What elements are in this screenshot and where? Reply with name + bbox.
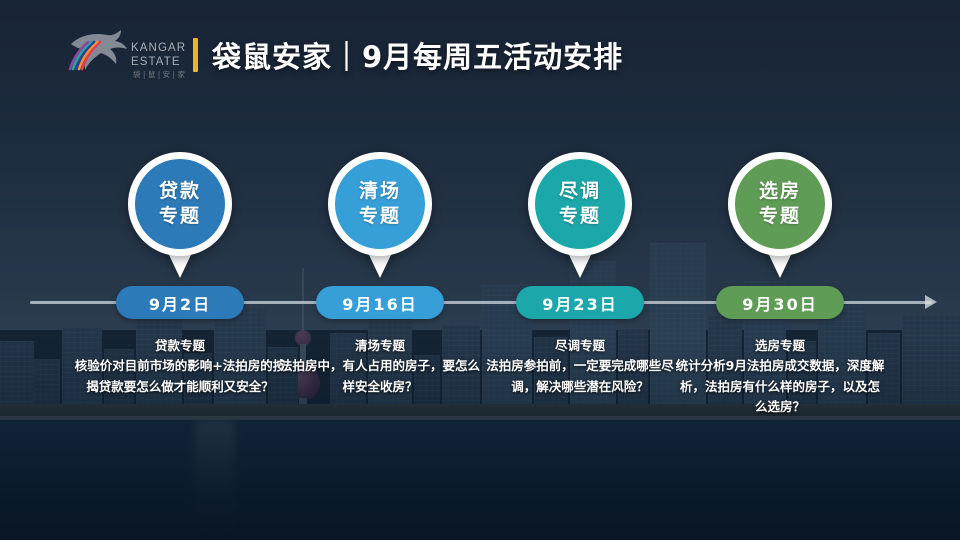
map-pin-icon[interactable]: 清场 专题 bbox=[328, 152, 432, 280]
map-pin-icon[interactable]: 贷款 专题 bbox=[128, 152, 232, 280]
description-title: 清场专题 bbox=[274, 336, 486, 356]
svg-text:袋|鼠|安|家: 袋|鼠|安|家 bbox=[133, 69, 185, 79]
pin-label-line2: 专题 bbox=[359, 205, 401, 227]
pin-label-line1: 清场 bbox=[359, 180, 401, 202]
node-description: 清场专题 法拍房中，有人占用的房子，要怎么样安全收房？ bbox=[274, 336, 486, 397]
node-description: 选房专题 统计分析9月法拍房成交数据，深度解析，法拍房有什么样的房子，以及怎么选… bbox=[674, 336, 886, 417]
description-title: 选房专题 bbox=[674, 336, 886, 356]
title-text: 袋鼠安家｜9月每周五活动安排 bbox=[212, 34, 623, 76]
header: KANGAROO ESTATE 袋|鼠|安|家 袋鼠安家｜9月每周五活动安排 bbox=[0, 0, 960, 100]
pin-label-line2: 专题 bbox=[559, 205, 601, 227]
poster-canvas: KANGAROO ESTATE 袋|鼠|安|家 袋鼠安家｜9月每周五活动安排 贷… bbox=[0, 0, 960, 540]
description-body: 法拍房中，有人占用的房子，要怎么样安全收房？ bbox=[274, 356, 486, 397]
pin-label-line1: 选房 bbox=[759, 180, 801, 202]
description-body: 统计分析9月法拍房成交数据，深度解析，法拍房有什么样的房子，以及怎么选房？ bbox=[674, 356, 886, 417]
description-title: 贷款专题 bbox=[74, 336, 286, 356]
description-body: 法拍房参拍前，一定要完成哪些尽调，解决哪些潜在风险？ bbox=[474, 356, 686, 397]
kangaroo-logo-icon: KANGAROO ESTATE 袋|鼠|安|家 bbox=[55, 24, 185, 82]
pin-label-line2: 专题 bbox=[159, 205, 201, 227]
arrow-right-icon bbox=[925, 295, 937, 309]
date-pill[interactable]: 9月2日 bbox=[116, 286, 244, 319]
date-pill[interactable]: 9月23日 bbox=[516, 286, 644, 319]
pin-label-line1: 尽调 bbox=[559, 180, 601, 202]
node-description: 尽调专题 法拍房参拍前，一定要完成哪些尽调，解决哪些潜在风险？ bbox=[474, 336, 686, 397]
date-pill[interactable]: 9月16日 bbox=[316, 286, 444, 319]
date-pill[interactable]: 9月30日 bbox=[716, 286, 844, 319]
pin-label-line1: 贷款 bbox=[159, 180, 201, 202]
description-title: 尽调专题 bbox=[474, 336, 686, 356]
svg-text:ESTATE: ESTATE bbox=[131, 56, 181, 68]
node-description: 贷款专题 核验价对目前市场的影响+法拍房的按揭贷款要怎么做才能顺利又安全？ bbox=[74, 336, 286, 397]
page-title: 袋鼠安家｜9月每周五活动安排 bbox=[193, 32, 623, 78]
description-body: 核验价对目前市场的影响+法拍房的按揭贷款要怎么做才能顺利又安全？ bbox=[74, 356, 286, 397]
map-pin-icon[interactable]: 尽调 专题 bbox=[528, 152, 632, 280]
svg-text:KANGAROO: KANGAROO bbox=[131, 42, 185, 54]
title-accent-bar bbox=[193, 38, 198, 72]
map-pin-icon[interactable]: 选房 专题 bbox=[728, 152, 832, 280]
pin-label-line2: 专题 bbox=[759, 205, 801, 227]
